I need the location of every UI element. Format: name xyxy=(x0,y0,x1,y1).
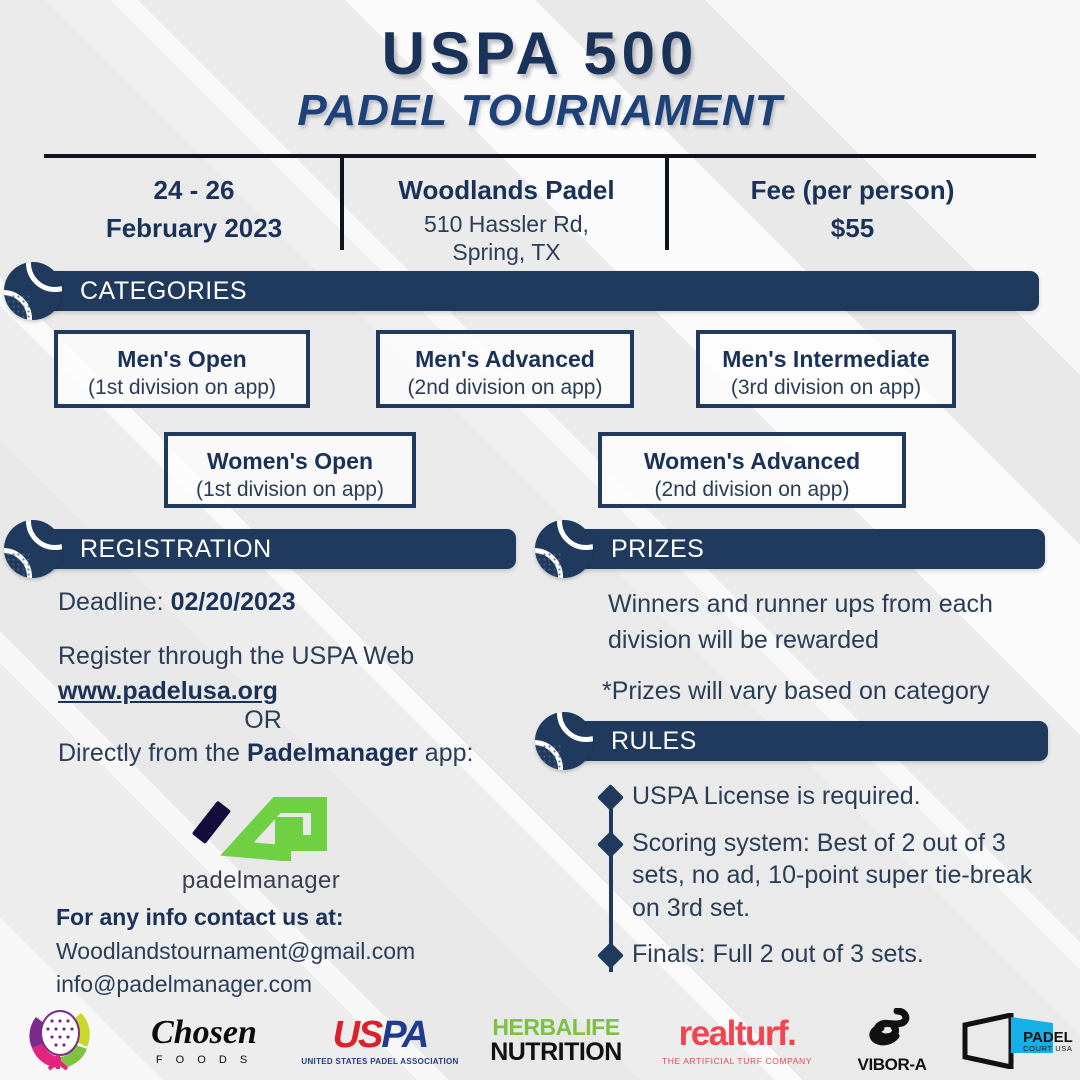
chosen-foods-wordmark: Chosen xyxy=(151,1016,257,1050)
app-line-post: app: xyxy=(418,739,474,767)
category-division: (1st division on app) xyxy=(168,476,412,503)
category-name: Women's Advanced xyxy=(602,447,902,476)
sponsor-padel-court-usa: PADEL COURT USA xyxy=(954,1013,1080,1069)
padel-ball-icon xyxy=(535,520,593,578)
contact-email-1[interactable]: Woodlandstournament@gmail.com xyxy=(56,935,526,968)
section-title-registration: REGISTRATION xyxy=(40,529,516,569)
herbalife-wordmark: HERBALIFE xyxy=(490,1016,622,1039)
category-box-womens-advanced[interactable]: Women's Advanced (2nd division on app) xyxy=(598,432,906,508)
contact-email-2[interactable]: info@padelmanager.com xyxy=(56,968,526,1001)
sponsor-woodlands-padel xyxy=(0,1005,116,1077)
section-header-prizes: PRIZES xyxy=(535,520,1045,578)
section-header-rules: RULES xyxy=(535,712,1048,770)
deadline-value: 02/20/2023 xyxy=(171,588,296,616)
list-item: USPA License is required. xyxy=(600,780,1050,813)
app-line-pre: Directly from the xyxy=(58,739,247,767)
registration-body: Deadline: 02/20/2023 Register through th… xyxy=(58,584,528,773)
category-box-mens-intermediate[interactable]: Men's Intermediate (3rd division on app) xyxy=(696,330,956,408)
category-name: Men's Intermediate xyxy=(700,345,952,374)
category-name: Women's Open xyxy=(168,447,412,476)
contact-block: For any info contact us at: Woodlandstou… xyxy=(56,900,526,1001)
prizes-body: Winners and runner ups from each divisio… xyxy=(608,586,1048,706)
padel-ball-icon xyxy=(4,520,62,578)
padel-ball-icon xyxy=(535,712,593,770)
padel-court-usa-subtext: COURT USA xyxy=(1023,1045,1073,1053)
section-header-categories: CATEGORIES xyxy=(4,262,1039,320)
rule-text: Finals: Full 2 out of 3 sets. xyxy=(632,938,1050,971)
registration-web-line: Register through the USPA Web xyxy=(58,638,528,676)
woodlands-padel-logo-icon xyxy=(19,1005,97,1077)
prizes-line-2: division will be rewarded xyxy=(608,622,1048,658)
venue-address-line1: 510 Hassler Rd, xyxy=(344,210,669,239)
section-title-categories: CATEGORIES xyxy=(40,271,1039,311)
prizes-note: *Prizes will vary based on category xyxy=(602,677,1048,706)
diamond-bullet-icon xyxy=(597,784,624,811)
padel-ball-icon xyxy=(4,262,62,320)
sponsor-herbalife: HERBALIFE NUTRITION xyxy=(468,1016,644,1067)
padel-court-usa-wordmark: PADEL xyxy=(1023,1030,1073,1045)
registration-or: OR xyxy=(58,706,528,735)
sponsor-strip: Chosen F O O D S USPA UNITED STATES PADE… xyxy=(0,1002,1080,1080)
sponsor-vibor-a: VIBOR-A xyxy=(830,1008,954,1075)
fee-value: $55 xyxy=(669,210,1036,248)
contact-heading: For any info contact us at: xyxy=(56,900,526,935)
uspa-subtext: UNITED STATES PADEL ASSOCIATION xyxy=(301,1057,458,1066)
deadline-label: Deadline: xyxy=(58,588,164,616)
padelmanager-logo: padelmanager xyxy=(176,795,346,895)
uspa-wordmark-blue: PA xyxy=(381,1014,427,1056)
category-name: Men's Advanced xyxy=(380,345,630,374)
event-date-days: 24 - 26 xyxy=(44,172,344,210)
event-date-month: February 2023 xyxy=(44,210,344,248)
rule-text: USPA License is required. xyxy=(632,780,1050,813)
list-item: Finals: Full 2 out of 3 sets. xyxy=(600,938,1050,971)
herbalife-subtext: NUTRITION xyxy=(490,1039,622,1067)
section-title-prizes: PRIZES xyxy=(571,529,1045,569)
realturf-subtext: THE ARTIFICIAL TURF COMPANY xyxy=(662,1056,812,1066)
rule-text: Scoring system: Best of 2 out of 3 sets,… xyxy=(632,827,1050,925)
realturf-wordmark: realturf. xyxy=(662,1016,812,1051)
chosen-foods-subtext: F O O D S xyxy=(151,1054,257,1066)
event-info-bar: 24 - 26 February 2023 Woodlands Padel 51… xyxy=(44,154,1036,250)
info-date-column: 24 - 26 February 2023 xyxy=(44,158,344,250)
category-division: (3rd division on app) xyxy=(700,374,952,401)
category-box-womens-open[interactable]: Women's Open (1st division on app) xyxy=(164,432,416,508)
padelmanager-mark-icon xyxy=(191,795,331,861)
page-subtitle: PADEL TOURNAMENT xyxy=(0,87,1080,135)
padelmanager-wordmark: padelmanager xyxy=(176,867,346,895)
venue-name: Woodlands Padel xyxy=(344,172,669,210)
sponsor-chosen-foods: Chosen F O O D S xyxy=(116,1016,292,1066)
section-header-registration: REGISTRATION xyxy=(4,520,516,578)
info-fee-column: Fee (per person) $55 xyxy=(669,158,1036,250)
category-division: (2nd division on app) xyxy=(602,476,902,503)
sponsor-realturf: realturf. THE ARTIFICIAL TURF COMPANY xyxy=(644,1016,830,1066)
info-venue-column: Woodlands Padel 510 Hassler Rd, Spring, … xyxy=(344,158,669,250)
category-division: (1st division on app) xyxy=(58,374,306,401)
registration-web-link[interactable]: www.padelusa.org xyxy=(58,677,278,706)
page-title: USPA 500 xyxy=(0,22,1080,85)
sponsor-uspa: USPA UNITED STATES PADEL ASSOCIATION xyxy=(292,1016,468,1066)
category-division: (2nd division on app) xyxy=(380,374,630,401)
prizes-line-1: Winners and runner ups from each xyxy=(608,586,1048,622)
diamond-bullet-icon xyxy=(597,831,624,858)
section-title-rules: RULES xyxy=(571,721,1048,761)
category-box-mens-open[interactable]: Men's Open (1st division on app) xyxy=(54,330,310,408)
vibor-a-snake-icon xyxy=(861,1008,923,1048)
diamond-bullet-icon xyxy=(597,942,624,969)
fee-label: Fee (per person) xyxy=(669,172,1036,210)
flyer-title-block: USPA 500 PADEL TOURNAMENT xyxy=(0,0,1080,135)
registration-deadline-row: Deadline: 02/20/2023 xyxy=(58,584,528,622)
vibor-a-wordmark: VIBOR-A xyxy=(858,1055,927,1075)
registration-app-line: Directly from the Padelmanager app: xyxy=(58,735,528,773)
list-item: Scoring system: Best of 2 out of 3 sets,… xyxy=(600,827,1050,925)
category-name: Men's Open xyxy=(58,345,306,374)
app-line-brand: Padelmanager xyxy=(247,739,418,767)
rules-list: USPA License is required. Scoring system… xyxy=(600,780,1050,985)
category-box-mens-advanced[interactable]: Men's Advanced (2nd division on app) xyxy=(376,330,634,408)
uspa-wordmark-red: US xyxy=(333,1014,382,1056)
